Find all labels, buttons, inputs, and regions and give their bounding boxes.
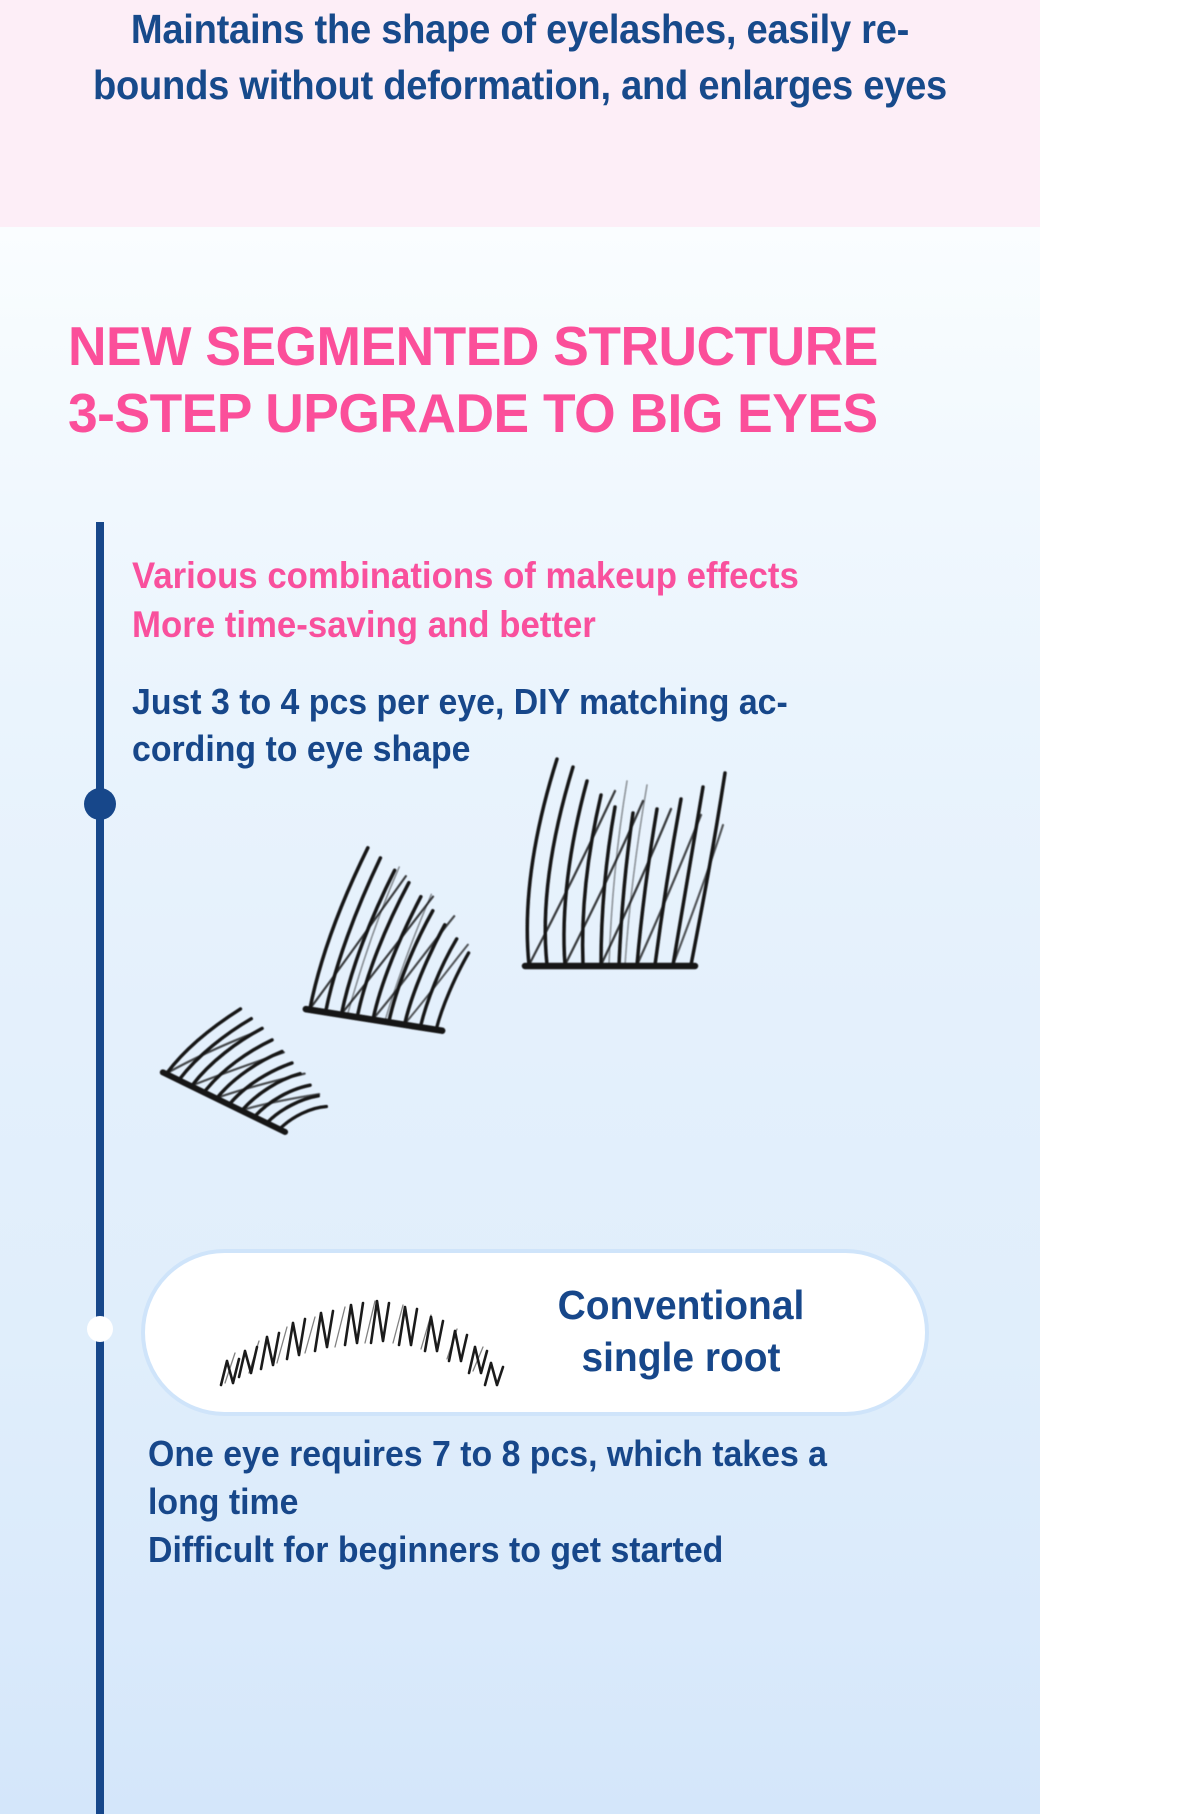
conventional-card: Conventional single root	[141, 1249, 929, 1416]
lash-cluster-photo	[140, 737, 790, 1137]
timeline-vertical-line	[96, 522, 104, 1814]
timeline-dot-filled-icon	[84, 788, 116, 820]
timeline-dot-hollow-icon	[87, 1316, 113, 1342]
right-white-margin	[1040, 0, 1200, 1814]
conventional-lash-photo	[205, 1273, 535, 1401]
infographic-page: Maintains the shape of eyelashes, easily…	[0, 0, 1200, 1814]
lash-cluster-icon	[140, 737, 790, 1137]
conventional-body-text: One eye requires 7 to 8 pcs, which takes…	[148, 1430, 900, 1574]
conventional-card-label: Conventional single root	[491, 1279, 871, 1384]
top-banner: Maintains the shape of eyelashes, easily…	[0, 0, 1040, 227]
page-title: NEW SEGMENTED STRUCTURE 3-STEP UPGRADE T…	[68, 313, 970, 446]
banner-headline-text: Maintains the shape of eyelashes, easily…	[36, 2, 1003, 114]
lash-strip-icon	[205, 1273, 535, 1401]
new-structure-title: Various combinations of makeup effects M…	[132, 552, 950, 650]
main-content-area: NEW SEGMENTED STRUCTURE 3-STEP UPGRADE T…	[0, 227, 1040, 1814]
